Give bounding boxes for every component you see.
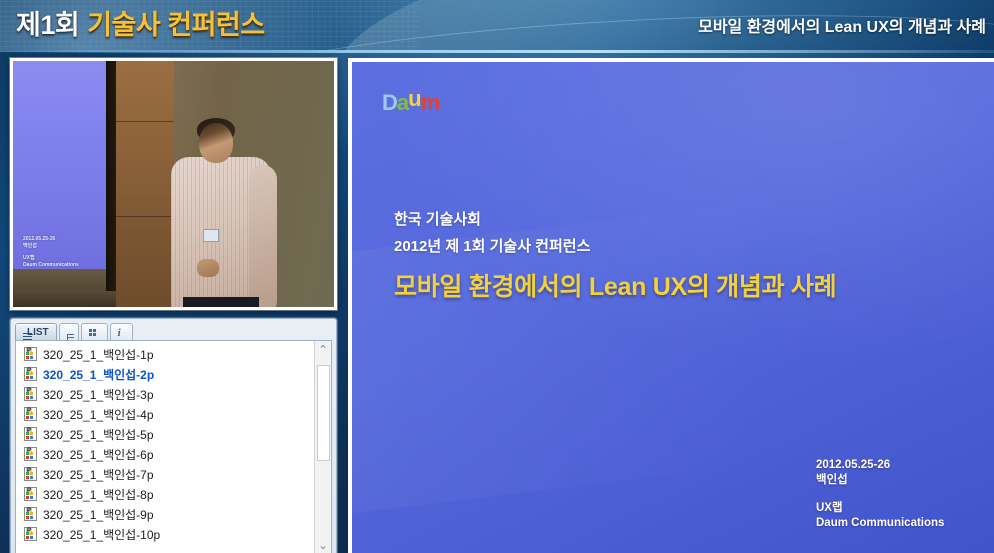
list-item-label: 320_25_1_백인섭-9p	[43, 506, 154, 523]
powerpoint-file-icon	[24, 367, 37, 381]
video-speaker-arm	[249, 165, 277, 307]
list-item-label: 320_25_1_백인섭-5p	[43, 426, 154, 443]
video-floor	[13, 291, 116, 307]
list-item[interactable]: 320_25_1_백인섭-2p	[16, 364, 331, 384]
list-item-label: 320_25_1_백인섭-1p	[43, 346, 154, 363]
slide-list-box: 320_25_1_백인섭-1p 320_25_1_백인섭-2p 320_25_1…	[15, 340, 332, 553]
tab-thumbnails[interactable]	[81, 323, 108, 341]
slide-credits-spacer	[816, 488, 976, 501]
brand-name: 기술사 컨퍼런스	[87, 10, 264, 40]
list-item[interactable]: 320_25_1_백인섭-9p	[16, 504, 331, 524]
powerpoint-file-icon	[24, 507, 37, 521]
conference-brand: 제1회기술사 컨퍼런스	[16, 6, 265, 44]
list-scrollbar[interactable]: ⌃ ⌄	[314, 341, 331, 553]
list-item[interactable]: 320_25_1_백인섭-10p	[16, 524, 331, 544]
brand-edition: 제1회	[16, 10, 79, 40]
video-projected-text: 2012.05.25-26 백인섭 UX랩 Daum Communication…	[23, 236, 79, 269]
video-projected-team: UX랩	[23, 255, 79, 262]
slide-list-panel: LIST i 320_25_1_백인섭-1p	[10, 318, 337, 553]
video-speaker-name-badge	[203, 229, 219, 242]
list-item[interactable]: 320_25_1_백인섭-8p	[16, 484, 331, 504]
daum-logo-letter-u: u	[408, 86, 420, 111]
slide-company: Daum Communications	[816, 516, 976, 531]
daum-logo-letter-d: D	[382, 90, 397, 115]
video-speaker-head	[199, 123, 233, 163]
header-divider	[0, 50, 994, 53]
page-title: 모바일 환경에서의 Lean UX의 개념과 사례	[698, 13, 986, 37]
slide-title: 모바일 환경에서의 Lean UX의 개념과 사례	[394, 267, 836, 303]
tab-list[interactable]: LIST	[15, 323, 57, 341]
video-dark-pillar	[106, 61, 116, 307]
list-panel-tabs: LIST i	[15, 322, 332, 341]
slide-team: UX랩	[816, 501, 976, 516]
video-wood-seam	[116, 121, 174, 122]
video-speaker-hands	[197, 259, 219, 277]
grid-thumbnails-icon	[89, 329, 96, 336]
list-item[interactable]: 320_25_1_백인섭-3p	[16, 384, 331, 404]
speaker-video-panel[interactable]: 2012.05.25-26 백인섭 UX랩 Daum Communication…	[10, 58, 337, 310]
powerpoint-file-icon	[24, 527, 37, 541]
list-item-label: 320_25_1_백인섭-4p	[43, 406, 154, 423]
video-speaker-trousers	[183, 297, 259, 307]
list-item[interactable]: 320_25_1_백인섭-7p	[16, 464, 331, 484]
list-item[interactable]: 320_25_1_백인섭-1p	[16, 344, 331, 364]
powerpoint-file-icon	[24, 467, 37, 481]
tab-outline[interactable]	[59, 323, 79, 341]
presentation-viewer: 제1회기술사 컨퍼런스 모바일 환경에서의 Lean UX의 개념과 사례 20…	[0, 0, 994, 553]
current-slide: Daum 한국 기술사회 2012년 제 1회 기술사 컨퍼런스 모바일 환경에…	[352, 62, 994, 553]
daum-logo-letter-a: a	[397, 90, 408, 115]
scroll-down-icon[interactable]: ⌄	[315, 537, 332, 553]
video-projected-speaker: 백인섭	[23, 243, 79, 250]
slide-date: 2012.05.25-26	[816, 458, 976, 473]
slide-subheading: 한국 기술사회 2012년 제 1회 기술사 컨퍼런스	[394, 206, 590, 260]
powerpoint-file-icon	[24, 387, 37, 401]
scroll-up-icon[interactable]: ⌃	[315, 341, 332, 359]
list-item-label: 320_25_1_백인섭-10p	[43, 526, 160, 543]
list-item-label: 320_25_1_백인섭-2p	[43, 366, 154, 383]
slide-speaker: 백인섭	[816, 473, 976, 488]
slide-credits: 2012.05.25-26 백인섭 UX랩 Daum Communication…	[816, 458, 976, 531]
slide-event: 2012년 제 1회 기술사 컨퍼런스	[394, 233, 590, 260]
list-item-label: 320_25_1_백인섭-6p	[43, 446, 154, 463]
info-icon: i	[118, 328, 121, 338]
powerpoint-file-icon	[24, 347, 37, 361]
powerpoint-file-icon	[24, 447, 37, 461]
list-item[interactable]: 320_25_1_백인섭-5p	[16, 424, 331, 444]
scrollbar-track[interactable]	[315, 359, 332, 537]
page-header: 제1회기술사 컨퍼런스 모바일 환경에서의 Lean UX의 개념과 사례	[0, 0, 994, 52]
slide-list: 320_25_1_백인섭-1p 320_25_1_백인섭-2p 320_25_1…	[16, 341, 331, 544]
daum-logo-letter-m: m	[421, 90, 440, 115]
list-item-label: 320_25_1_백인섭-8p	[43, 486, 154, 503]
video-projected-org: Daum Communications	[23, 262, 79, 269]
powerpoint-file-icon	[24, 407, 37, 421]
scrollbar-thumb[interactable]	[317, 365, 330, 461]
list-item[interactable]: 320_25_1_백인섭-6p	[16, 444, 331, 464]
slide-organization: 한국 기술사회	[394, 206, 590, 233]
powerpoint-file-icon	[24, 487, 37, 501]
daum-logo: Daum	[382, 92, 439, 114]
tabs-filler	[135, 323, 332, 341]
list-item-label: 320_25_1_백인섭-7p	[43, 466, 154, 483]
list-item-label: 320_25_1_백인섭-3p	[43, 386, 154, 403]
video-projected-date: 2012.05.25-26	[23, 236, 79, 243]
tab-info[interactable]: i	[110, 323, 133, 341]
slide-viewer-panel[interactable]: Daum 한국 기술사회 2012년 제 1회 기술사 컨퍼런스 모바일 환경에…	[348, 58, 994, 553]
video-wood-panel	[116, 61, 174, 307]
powerpoint-file-icon	[24, 427, 37, 441]
list-item[interactable]: 320_25_1_백인섭-4p	[16, 404, 331, 424]
speaker-video-frame: 2012.05.25-26 백인섭 UX랩 Daum Communication…	[13, 61, 334, 307]
video-wood-seam	[116, 216, 174, 217]
